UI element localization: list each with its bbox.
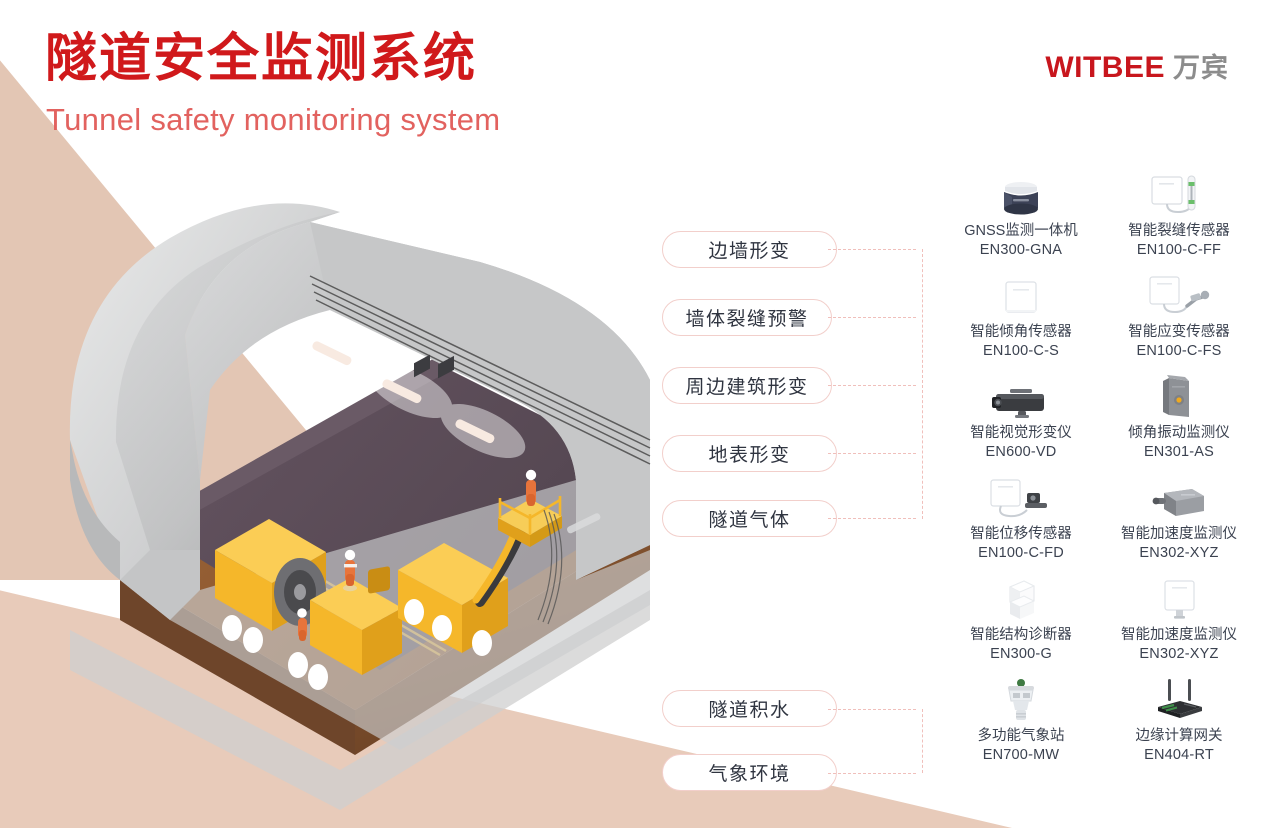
device-card-displacement-sensor[interactable]: 智能位移传感器 EN100-C-FD [945, 473, 1097, 574]
connector-line-3 [828, 385, 916, 386]
device-model: EN100-C-FS [1137, 342, 1222, 361]
device-model: EN404-RT [1144, 746, 1214, 765]
device-model: EN100-C-S [983, 342, 1059, 361]
brand-name-latin: WITBEE [1045, 51, 1165, 84]
connector-line-1 [828, 249, 916, 250]
monitoring-pill-tunnel-water-accumulation[interactable]: 隧道积水 [662, 690, 837, 727]
tilt-vibration-icon [1159, 372, 1199, 420]
gnss-receiver-icon [994, 170, 1048, 218]
device-card-tilt-sensor[interactable]: 智能倾角传感器 EN100-C-S [945, 271, 1097, 372]
connector-line-6 [828, 709, 916, 710]
device-model: EN302-XYZ [1139, 645, 1218, 664]
edge-gateway-icon [1150, 675, 1208, 723]
device-model: EN700-MW [983, 746, 1060, 765]
monitoring-pill-wall-crack-alert[interactable]: 墙体裂缝预警 [662, 299, 832, 336]
displacement-sensor-icon [987, 473, 1055, 521]
monitoring-pill-tunnel-gas[interactable]: 隧道气体 [662, 500, 837, 537]
structure-diagnoser-icon [1000, 574, 1042, 622]
tilt-sensor-icon [998, 271, 1044, 319]
worker-in-bucket [526, 470, 536, 506]
connector-bracket-top [828, 230, 923, 530]
pill-label: 地表形变 [708, 440, 790, 467]
pill-label: 隧道积水 [708, 695, 790, 722]
brand-name-cn: 万宾 [1173, 53, 1229, 83]
device-name: 智能位移传感器 [970, 525, 1072, 544]
worker-near-reel [297, 608, 307, 641]
pill-label: 墙体裂缝预警 [685, 304, 808, 331]
device-name: 智能视觉形变仪 [970, 424, 1072, 443]
monitoring-pill-ground-surface-deformation[interactable]: 地表形变 [662, 435, 837, 472]
device-model: EN302-XYZ [1139, 544, 1218, 563]
brand-logo: WITBEE万宾 [1045, 46, 1229, 85]
device-name: 智能倾角传感器 [970, 323, 1072, 342]
accelerometer-box-icon [1150, 473, 1208, 521]
connector-line-2 [828, 317, 916, 318]
crack-sensor-icon [1148, 170, 1210, 218]
device-name: 智能应变传感器 [1128, 323, 1230, 342]
device-name: 智能加速度监测仪 [1121, 525, 1237, 544]
pill-label: 边墙形变 [708, 236, 790, 263]
accelerometer-flat-icon [1157, 574, 1201, 622]
tunnel-illustration-svg [10, 150, 660, 810]
device-model: EN300-G [990, 645, 1052, 664]
pill-label: 隧道气体 [708, 505, 790, 532]
pill-label: 气象环境 [708, 759, 790, 786]
monitoring-pill-weather-environment[interactable]: 气象环境 [662, 754, 837, 791]
strain-sensor-icon [1146, 271, 1212, 319]
device-name: GNSS监测一体机 [964, 222, 1078, 241]
pill-label: 周边建筑形变 [685, 372, 808, 399]
device-card-edge-gateway[interactable]: 边缘计算网关 EN404-RT [1103, 675, 1255, 776]
device-model: EN600-VD [986, 443, 1057, 462]
page-title-en: Tunnel safety monitoring system [46, 102, 500, 138]
device-name: 倾角振动监测仪 [1128, 424, 1230, 443]
device-model: EN100-C-FF [1137, 241, 1221, 260]
monitoring-pill-surrounding-building-deformation[interactable]: 周边建筑形变 [662, 367, 832, 404]
device-card-tilt-vibration-monitor[interactable]: 倾角振动监测仪 EN301-AS [1103, 372, 1255, 473]
monitoring-pill-side-wall-deformation[interactable]: 边墙形变 [662, 231, 837, 268]
device-card-crack-sensor[interactable]: 智能裂缝传感器 EN100-C-FF [1103, 170, 1255, 271]
vision-camera-icon [988, 372, 1054, 420]
device-card-structure-diagnoser[interactable]: 智能结构诊断器 EN300-G [945, 574, 1097, 675]
device-name: 智能结构诊断器 [970, 626, 1072, 645]
device-name: 边缘计算网关 [1136, 727, 1223, 746]
connector-line-5 [828, 518, 916, 519]
tunnel-illustration [10, 150, 660, 810]
device-name: 智能裂缝传感器 [1128, 222, 1230, 241]
connector-line-4 [828, 453, 916, 454]
device-name: 多功能气象站 [978, 727, 1065, 746]
device-card-vision-deformation-meter[interactable]: 智能视觉形变仪 EN600-VD [945, 372, 1097, 473]
connector-spine-top [922, 249, 923, 519]
device-card-accelerometer-monitor-2[interactable]: 智能加速度监测仪 EN302-XYZ [1103, 574, 1255, 675]
device-grid: GNSS监测一体机 EN300-GNA 智能裂缝传感器 EN100-C-FF [945, 170, 1255, 776]
device-card-accelerometer-monitor-1[interactable]: 智能加速度监测仪 EN302-XYZ [1103, 473, 1255, 574]
device-model: EN300-GNA [980, 241, 1062, 260]
device-model: EN100-C-FD [978, 544, 1064, 563]
device-name: 智能加速度监测仪 [1121, 626, 1237, 645]
device-card-weather-station[interactable]: 多功能气象站 EN700-MW [945, 675, 1097, 776]
poster-canvas: 隧道安全监测系统 Tunnel safety monitoring system… [0, 0, 1267, 828]
device-model: EN301-AS [1144, 443, 1214, 462]
page-title-cn: 隧道安全监测系统 [45, 30, 477, 90]
weather-station-icon [1000, 675, 1042, 723]
page-header: 隧道安全监测系统 Tunnel safety monitoring system… [0, 0, 1267, 160]
device-card-gnss-monitor[interactable]: GNSS监测一体机 EN300-GNA [945, 170, 1097, 271]
connector-line-7 [828, 773, 916, 774]
connector-bracket-bottom [828, 690, 923, 785]
device-card-strain-sensor[interactable]: 智能应变传感器 EN100-C-FS [1103, 271, 1255, 372]
connector-spine-bottom [922, 709, 923, 773]
